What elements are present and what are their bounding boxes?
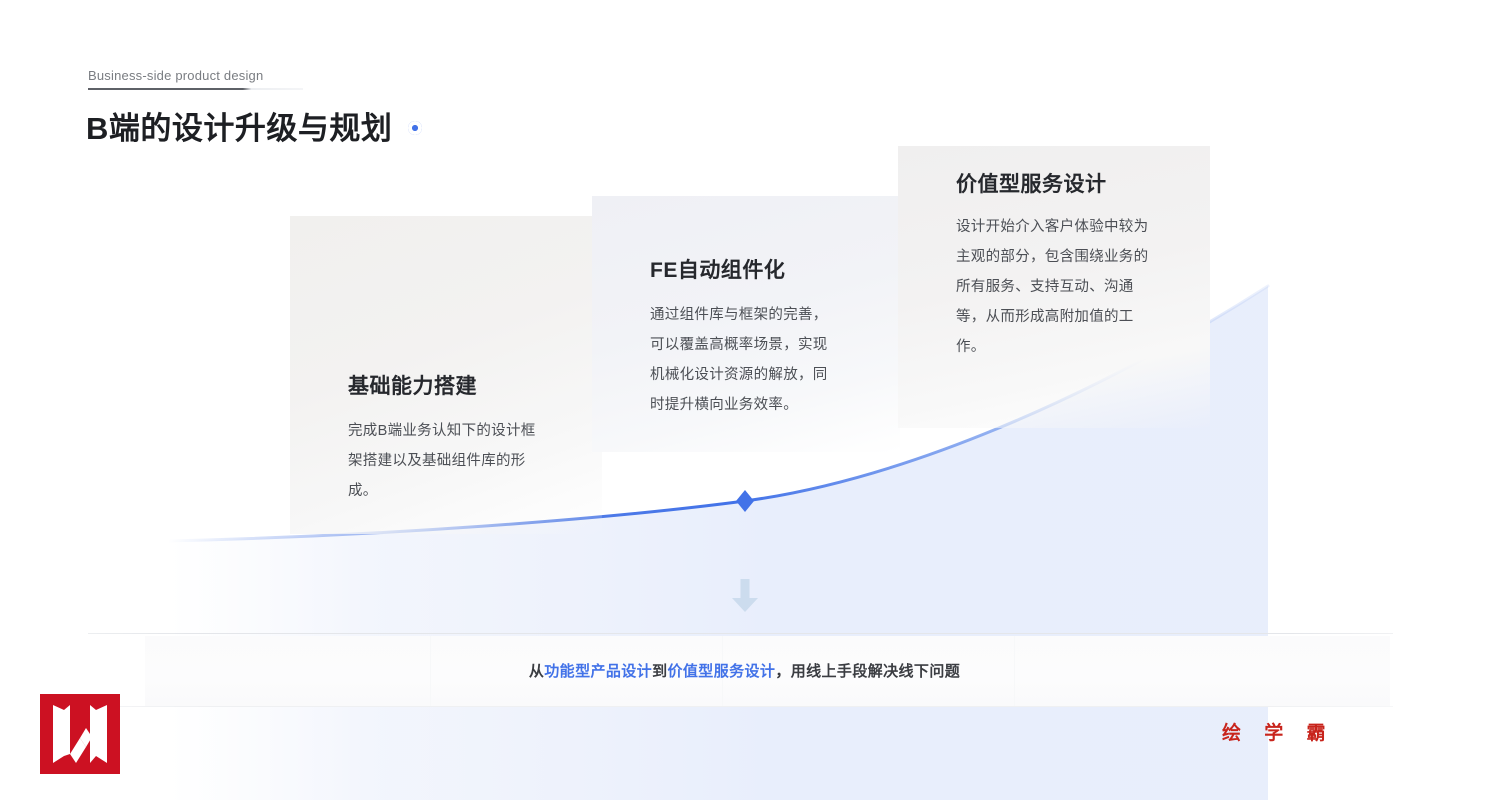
caption-highlight-2: 价值型服务设计 [668,663,776,680]
card-title: 价值型服务设计 [956,168,1107,198]
stage-card-fe-componentization[interactable]: FE自动组件化 通过组件库与框架的完善，可以覆盖高概率场景，实现机械化设计资源的… [592,196,900,452]
card-body: 完成B端业务认知下的设计框架搭建以及基础组件库的形成。 [348,416,548,506]
section-divider [88,633,1393,634]
eyebrow-underline [88,88,303,90]
caption-suffix: ，用线上手段解决线下问题 [775,663,960,680]
caption-prefix: 从 [529,663,544,680]
page-title: B端的设计升级与规划 [86,103,392,148]
stage-card-value-service-design[interactable]: 价值型服务设计 设计开始介入客户体验中较为主观的部分，包含围绕业务的所有服务、支… [898,146,1210,428]
w-logo [40,694,120,774]
title-dot-icon [408,121,422,135]
arrow-down-icon [731,579,759,613]
caption-highlight-1: 功能型产品设计 [544,663,652,680]
watermark-text: 绘 学 霸 [1222,718,1335,745]
card-body: 通过组件库与框架的完善，可以覆盖高概率场景，实现机械化设计资源的解放，同时提升横… [650,300,835,420]
slide-canvas: Business-side product design B端的设计升级与规划 … [0,0,1489,800]
caption-middle: 到 [652,663,667,680]
eyebrow-label: Business-side product design [88,68,263,83]
stage-card-foundation[interactable]: 基础能力搭建 完成B端业务认知下的设计框架搭建以及基础组件库的形成。 [290,216,602,534]
card-title: FE自动组件化 [650,254,785,284]
card-title: 基础能力搭建 [348,370,477,400]
card-body: 设计开始介入客户体验中较为主观的部分，包含围绕业务的所有服务、支持互动、沟通等，… [956,212,1151,362]
summary-caption: 从功能型产品设计到价值型服务设计，用线上手段解决线下问题 [0,660,1489,681]
section-divider-secondary [88,706,1393,707]
